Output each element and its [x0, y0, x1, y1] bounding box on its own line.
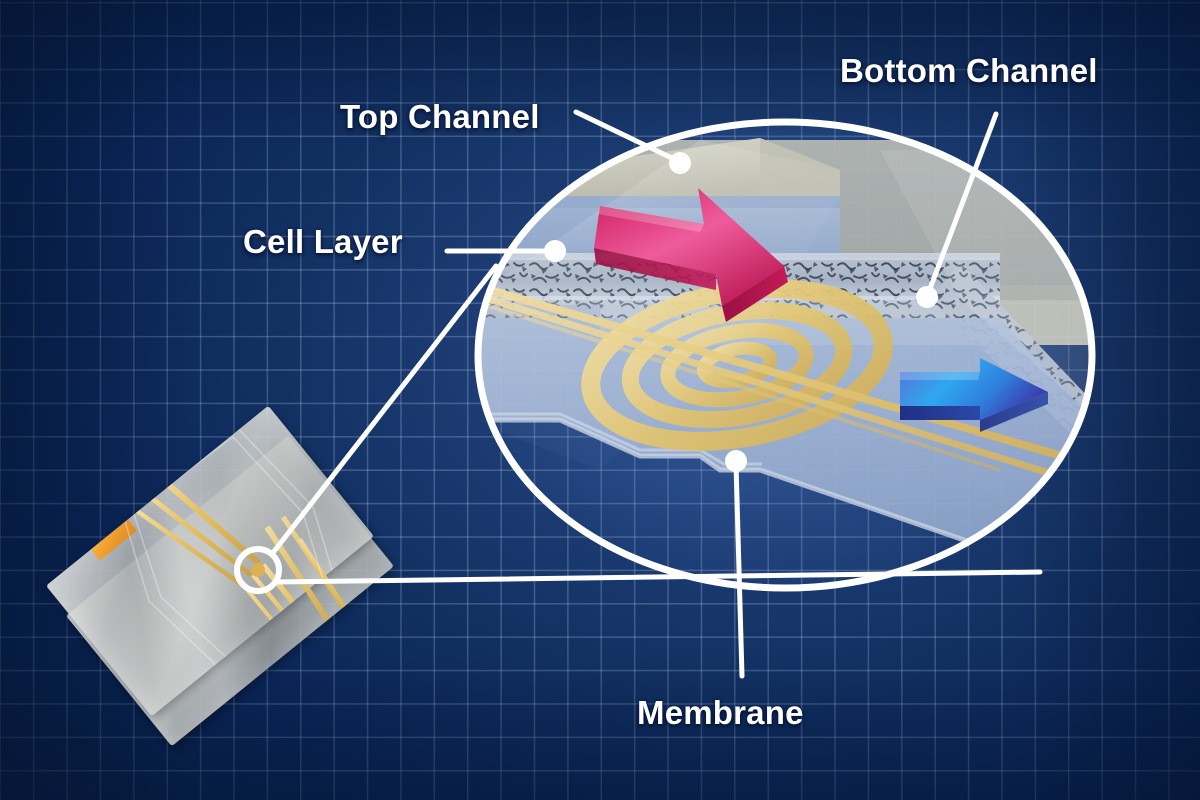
- label-cell-layer: Cell Layer: [243, 223, 403, 261]
- chip-photograph: [45, 415, 465, 755]
- label-membrane: Membrane: [637, 694, 804, 732]
- figure-canvas: Top Channel Cell Layer Bottom Channel Me…: [0, 0, 1200, 800]
- label-bottom-channel: Bottom Channel: [840, 52, 1098, 90]
- label-top-channel: Top Channel: [340, 98, 540, 136]
